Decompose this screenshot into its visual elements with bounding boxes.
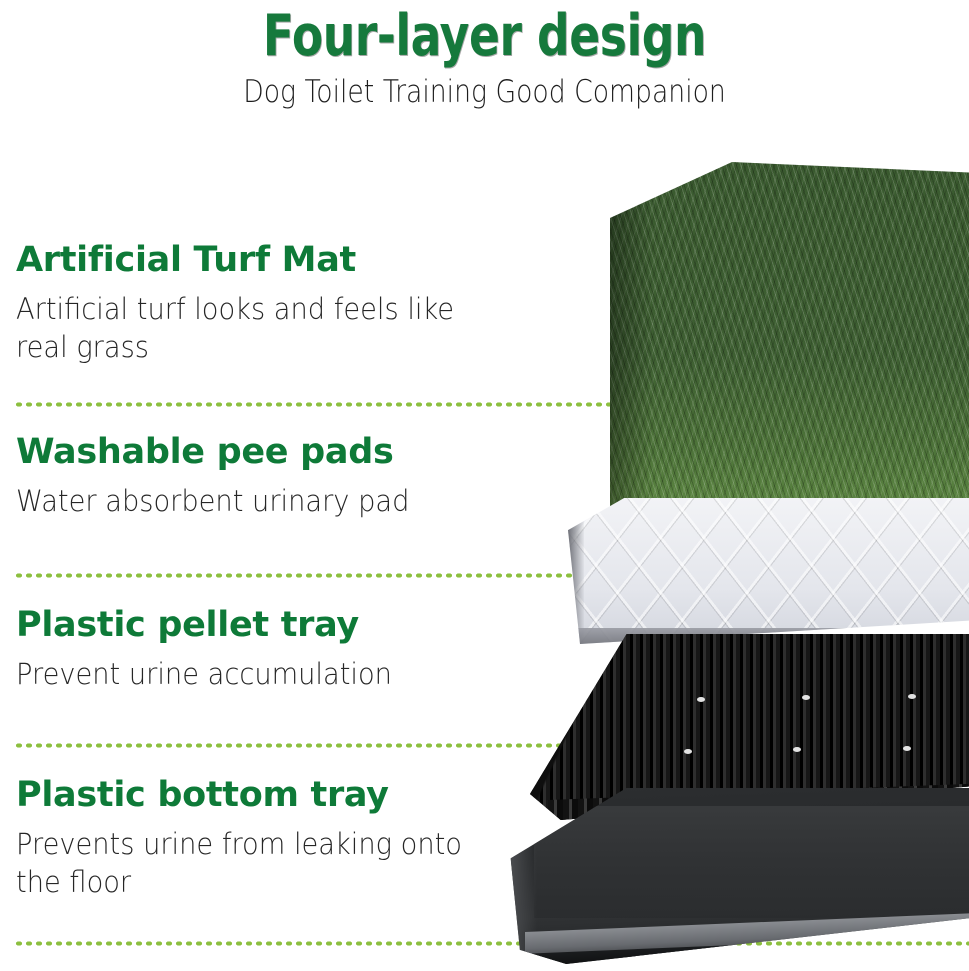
pellet-highlight-dot (802, 695, 810, 700)
page-subtitle: Dog Toilet Training Good Companion (68, 68, 901, 110)
feature-description: Artificial turf looks and feels like rea… (16, 280, 505, 366)
product-layer-artificial-turf-mat (610, 162, 969, 512)
bottom-tray-inner-surface (534, 806, 969, 919)
feature-artificial-turf-mat: Artificial Turf Mat Artificial turf look… (16, 240, 536, 366)
feature-heading: Washable pee pads (16, 432, 536, 472)
pellet-highlight-dot (697, 697, 705, 702)
product-layer-washable-pee-pad (568, 498, 969, 644)
feature-description: Prevent urine accumulation (16, 645, 505, 693)
feature-list: Artificial Turf Mat Artificial turf look… (0, 0, 560, 971)
feature-description: Prevents urine from leaking onto the flo… (16, 815, 505, 901)
feature-description: Water absorbent urinary pad (16, 472, 505, 520)
turf-edge-shadow (610, 162, 652, 512)
feature-heading: Plastic bottom tray (16, 775, 536, 815)
feature-plastic-bottom-tray: Plastic bottom tray Prevents urine from … (16, 775, 536, 901)
feature-plastic-pellet-tray: Plastic pellet tray Prevent urine accumu… (16, 605, 536, 693)
feature-washable-pee-pad: Washable pee pads Water absorbent urinar… (16, 432, 536, 520)
pellet-highlight-dot (684, 749, 692, 754)
header: Four-layer design Dog Toilet Training Go… (0, 0, 969, 120)
feature-heading: Artificial Turf Mat (16, 240, 536, 280)
pellet-highlight-dot (793, 747, 801, 752)
page-title: Four-layer design (97, 0, 872, 68)
pellet-highlight-dot (903, 746, 911, 751)
product-layer-stack-image (500, 140, 969, 971)
pellet-highlight-dot (908, 694, 916, 699)
feature-heading: Plastic pellet tray (16, 605, 536, 645)
